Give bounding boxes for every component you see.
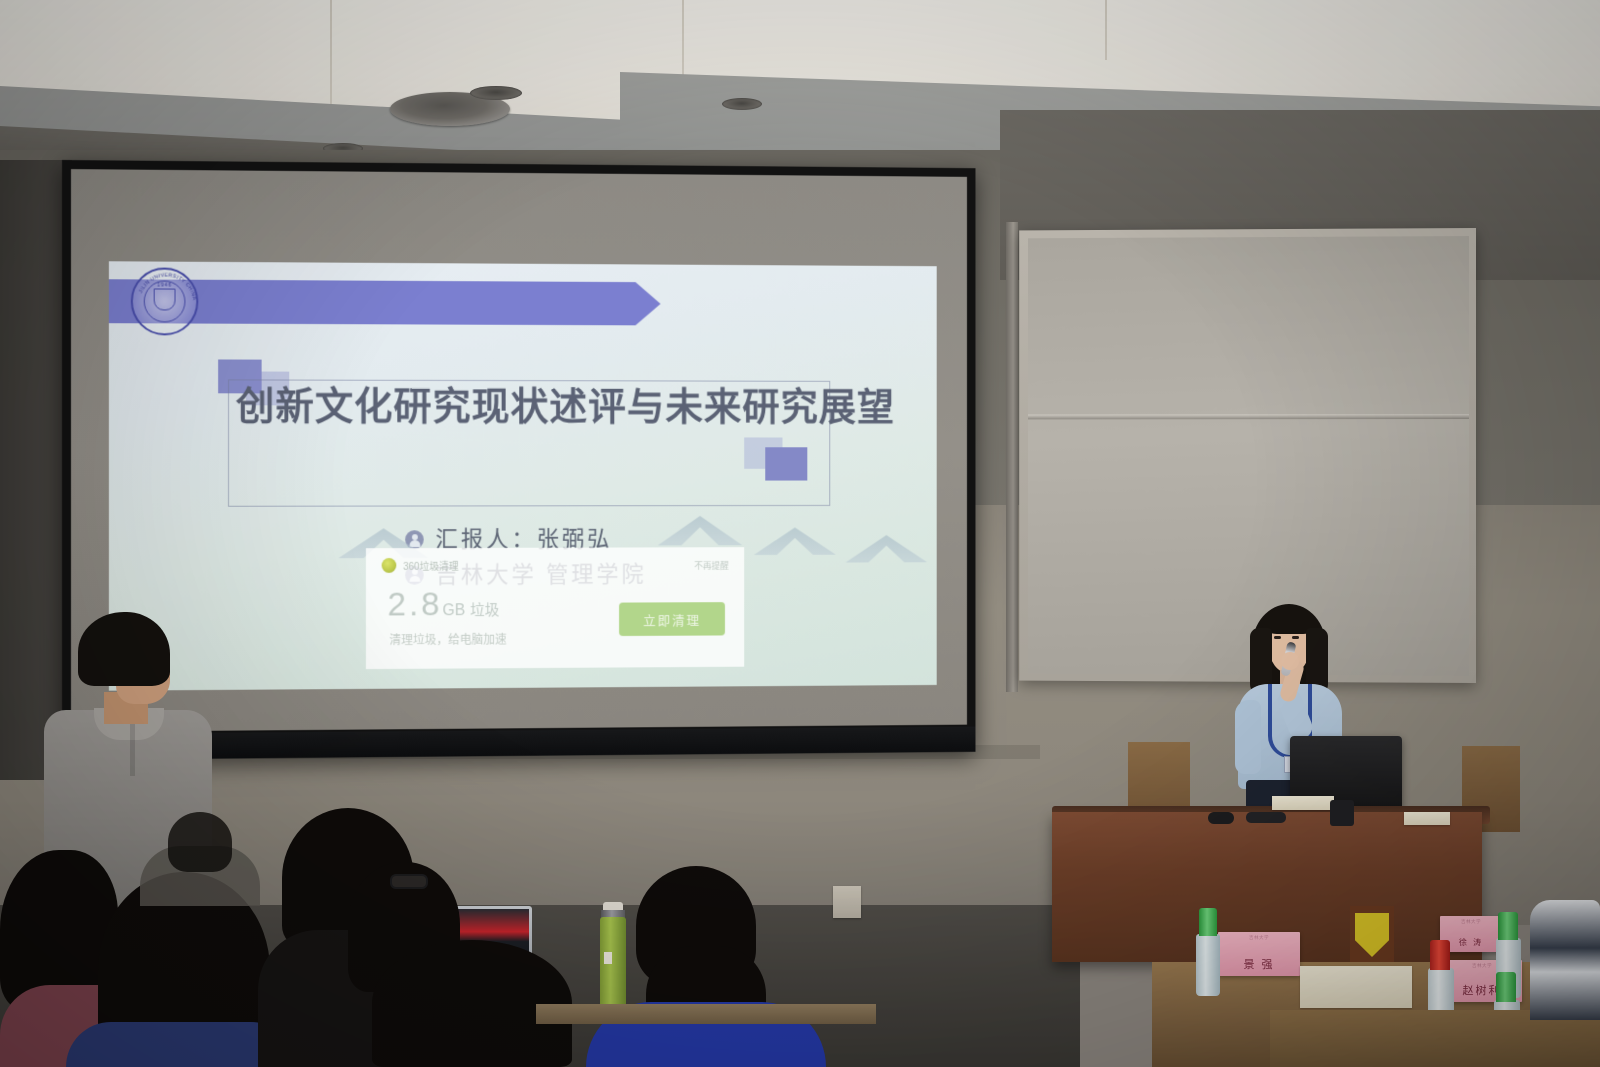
wall-light-switch[interactable] xyxy=(833,886,861,918)
lecture-hall-scene: JILIN UNIVERSITY CHINA 1946 创新文化研究现状述评与未… xyxy=(0,0,1600,1067)
ceiling-seam xyxy=(1105,0,1107,60)
nameplate-person: 景 强 xyxy=(1243,956,1274,972)
judges-papers xyxy=(1300,966,1412,1008)
presenter-hand xyxy=(1281,652,1299,670)
seal-shield-icon xyxy=(154,288,176,310)
audience-head-far xyxy=(168,812,232,872)
popup-brand-label: 360垃圾清理 xyxy=(403,558,458,573)
popup-size-suffix: 垃圾 xyxy=(470,602,499,619)
water-bottle xyxy=(1196,934,1220,996)
presenter-arm-left xyxy=(1235,700,1261,774)
remote-control-icon[interactable] xyxy=(1330,800,1354,826)
nameplate-org: 吉林大学 xyxy=(1472,963,1492,969)
ceiling-seam xyxy=(330,0,332,105)
podium-note xyxy=(1404,812,1450,825)
popup-subtitle: 清理垃圾，给电脑加速 xyxy=(389,631,506,648)
ceiling-downlight-icon xyxy=(470,86,522,100)
decor-chevron-icon xyxy=(754,527,836,555)
decor-chevron-icon xyxy=(845,535,927,563)
green-thermos-flask xyxy=(600,917,626,1012)
cleanup-popup[interactable]: 360垃圾清理 不再提醒 2.8GB垃圾 清理垃圾，给电脑加速 立即清理 xyxy=(366,547,744,669)
popup-dismiss-link[interactable]: 不再提醒 xyxy=(694,559,729,572)
popup-size-number: 2.8 xyxy=(388,586,443,624)
decor-chevron-icon xyxy=(658,516,743,546)
clean-now-button[interactable]: 立即清理 xyxy=(619,602,725,636)
nameplate-org: 吉林大学 xyxy=(1249,935,1269,941)
bottle-cap xyxy=(1496,972,1516,1002)
eyeglasses-icon xyxy=(1246,812,1286,823)
popup-size-unit: GB xyxy=(443,602,466,619)
presenter-eye xyxy=(1292,636,1299,639)
jilin-university-seal-icon: JILIN UNIVERSITY CHINA 1946 xyxy=(131,267,199,335)
decor-square-solid-2 xyxy=(765,447,807,480)
presenter-eye xyxy=(1274,636,1281,639)
popup-size-value: 2.8GB垃圾 xyxy=(388,585,500,624)
seal-inner-ring xyxy=(144,280,186,322)
whiteboard-rail xyxy=(1006,222,1018,692)
slide-title: 创新文化研究现状述评与未来研究展望 xyxy=(236,383,838,432)
bottle-cap xyxy=(1498,912,1518,940)
university-crest-plaque xyxy=(1350,906,1394,964)
eyeglasses-icon xyxy=(390,874,428,889)
popup-brand-row: 360垃圾清理 xyxy=(382,558,459,573)
bottle-cap xyxy=(1430,940,1450,970)
man-hair xyxy=(78,612,170,686)
ceiling-downlight-icon xyxy=(722,98,762,110)
shield-360-icon xyxy=(382,558,397,573)
bottle-cap xyxy=(1199,908,1217,936)
presentation-slide: JILIN UNIVERSITY CHINA 1946 创新文化研究现状述评与未… xyxy=(109,261,937,690)
audience-desk xyxy=(536,1004,876,1024)
seated-person-striped xyxy=(1530,900,1600,1020)
man-placket xyxy=(130,724,135,776)
nameplate-left: 吉林大学 景 强 xyxy=(1218,932,1300,976)
crest-shield-icon xyxy=(1355,913,1389,957)
nameplate-person: 徐 涛 xyxy=(1459,937,1483,948)
podium-papers xyxy=(1272,796,1334,810)
thermos-label xyxy=(604,952,612,964)
whiteboard-divider xyxy=(1028,414,1469,419)
nameplate-org: 吉林大学 xyxy=(1461,919,1481,925)
computer-mouse-icon[interactable] xyxy=(1208,812,1234,824)
